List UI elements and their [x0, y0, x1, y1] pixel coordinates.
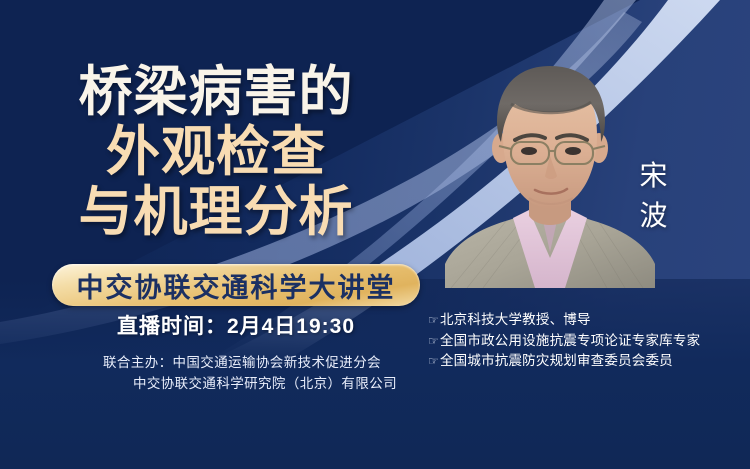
credential-row: ☞ 全国城市抗震防灾规划审查委员会委员	[428, 351, 746, 372]
credential-text-2: 全国市政公用设施抗震专项论证专家库专家	[440, 331, 700, 351]
series-banner-label: 中交协联交通科学大讲堂	[77, 266, 396, 305]
speaker-credentials: ☞ 北京科技大学教授、博导 ☞ 全国市政公用设施抗震专项论证专家库专家 ☞ 全国…	[428, 310, 746, 372]
organizer-line-2: 中交协联交通科学研究院（北京）有限公司	[52, 373, 432, 394]
organizer-line-1: 联合主办：中国交通运输协会新技术促进分会	[52, 352, 432, 373]
poster-title: 桥梁病害的 外观检查 与机理分析	[0, 62, 432, 242]
credential-text-3: 全国城市抗震防灾规划审查委员会委员	[440, 351, 673, 371]
organizers-block: 联合主办：中国交通运输协会新技术促进分会 中交协联交通科学研究院（北京）有限公司	[52, 352, 432, 394]
credential-row: ☞ 全国市政公用设施抗震专项论证专家库专家	[428, 331, 746, 352]
pointing-hand-icon: ☞	[428, 332, 439, 352]
pointing-hand-icon: ☞	[428, 311, 439, 331]
speaker-name-char-1: 宋	[628, 156, 680, 196]
credential-text-1: 北京科技大学教授、博导	[440, 310, 591, 330]
title-line-2: 外观检查	[0, 122, 432, 182]
speaker-name: 宋 波	[628, 156, 680, 236]
speaker-name-char-2: 波	[628, 196, 680, 236]
title-line-1: 桥梁病害的	[0, 62, 432, 122]
webinar-poster: 桥梁病害的 外观检查 与机理分析 中交协联交通科学大讲堂 直播时间：2月4日19…	[0, 0, 750, 469]
credential-row: ☞ 北京科技大学教授、博导	[428, 310, 746, 331]
title-line-3: 与机理分析	[0, 182, 432, 242]
series-banner: 中交协联交通科学大讲堂	[52, 264, 420, 306]
live-time-text: 直播时间：2月4日19:30	[52, 310, 420, 340]
pointing-hand-icon: ☞	[428, 352, 439, 372]
